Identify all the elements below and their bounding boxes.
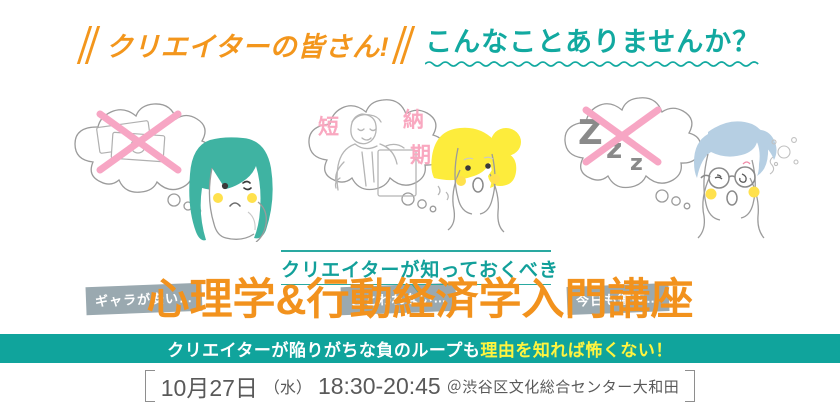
event-weekday: （水）	[264, 374, 312, 398]
panel-cannot-refuse: 短 納 期	[300, 82, 550, 242]
event-details: 10月27日 （水） 18:30-20:45 ＠渋谷区文化総合センター大和田	[0, 369, 840, 403]
slash-left-icon	[80, 24, 100, 64]
panel-2-art: 短 納 期	[300, 82, 550, 242]
headline-right: こんなことありませんか？	[425, 20, 760, 68]
bracket-right-icon	[685, 370, 695, 402]
svg-text:z: z	[630, 151, 643, 176]
character-teal-hair	[189, 137, 272, 242]
event-time: 18:30-20:45	[318, 373, 441, 400]
tagline-band: クリエイターが陥りがちな負のループも理由を知れば怖くない！	[0, 334, 840, 363]
main-title: 心理学&行動経済学入門講座	[0, 278, 840, 323]
illustration-scene: 短 納 期	[0, 82, 840, 242]
tagline-highlight-part: 理由を知れば怖くない！	[480, 341, 673, 360]
glasses-icon	[701, 167, 755, 188]
bracket-left-icon	[145, 370, 155, 402]
panel-1-art	[62, 82, 297, 242]
character-blue-hair-glasses	[694, 121, 777, 238]
svg-text:納: 納	[403, 108, 424, 132]
panel-low-pay	[62, 82, 297, 242]
subtitle-rule-top	[281, 250, 551, 252]
character-yellow-hair	[431, 128, 521, 232]
panel-all-nighter: Z z z	[556, 82, 806, 242]
tagline-text: クリエイターが陥りがちな負のループも理由を知れば怖くない！	[167, 336, 673, 361]
svg-text:短: 短	[318, 115, 339, 139]
headline-left-text: クリエイターの皆さん!	[106, 25, 389, 64]
event-date: 10月27日	[161, 369, 258, 403]
headline: クリエイターの皆さん! こんなことありませんか？	[0, 20, 840, 68]
tagline-normal-part: クリエイターが陥りがちな負のループも	[167, 341, 480, 360]
slash-right-icon	[395, 24, 415, 64]
svg-text:期: 期	[410, 143, 431, 167]
event-banner: クリエイターの皆さん! こんなことありませんか？	[0, 0, 840, 411]
event-venue: ＠渋谷区文化総合センター大和田	[447, 376, 680, 397]
sweat-icon	[438, 186, 448, 200]
panel-3-art: Z z z	[556, 82, 806, 242]
headline-right-text: こんなことありませんか？	[425, 20, 760, 59]
wavy-underline-icon	[425, 60, 760, 68]
